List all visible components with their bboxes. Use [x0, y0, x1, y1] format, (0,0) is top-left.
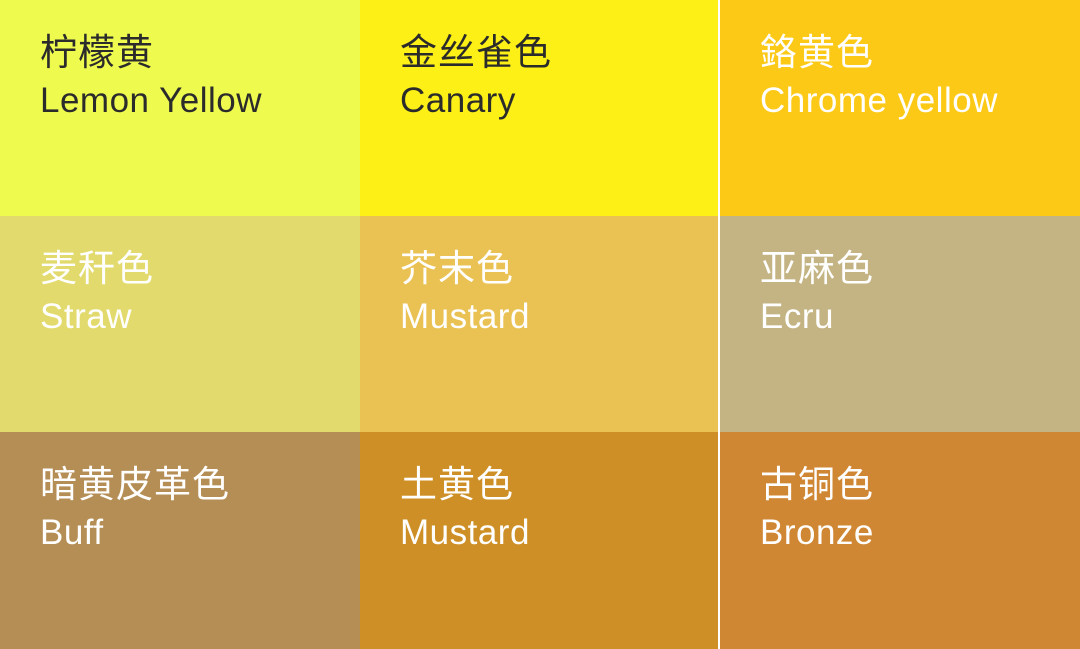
swatch-name-cn: 古铜色: [760, 462, 1080, 508]
color-swatch-earth-mustard[interactable]: 土黄色 Mustard: [360, 432, 718, 649]
swatch-name-en: Chrome yellow: [760, 78, 1080, 124]
swatch-name-cn: 柠檬黄: [40, 30, 360, 76]
color-swatch-buff[interactable]: 暗黄皮革色 Buff: [0, 432, 360, 649]
swatch-name-en: Canary: [400, 78, 718, 124]
swatch-name-en: Buff: [40, 510, 360, 556]
color-swatch-canary[interactable]: 金丝雀色 Canary: [360, 0, 718, 216]
swatch-name-cn: 鉻黄色: [760, 30, 1080, 76]
swatch-name-cn: 芥末色: [400, 246, 718, 292]
color-palette-grid: 柠檬黄 Lemon Yellow 金丝雀色 Canary 鉻黄色 Chrome …: [0, 0, 1080, 649]
swatch-name-cn: 暗黄皮革色: [40, 462, 360, 508]
color-swatch-ecru[interactable]: 亚麻色 Ecru: [718, 216, 1080, 432]
swatch-name-en: Ecru: [760, 294, 1080, 340]
swatch-name-en: Mustard: [400, 510, 718, 556]
swatch-name-en: Mustard: [400, 294, 718, 340]
swatch-name-cn: 麦秆色: [40, 246, 360, 292]
swatch-name-cn: 亚麻色: [760, 246, 1080, 292]
color-swatch-bronze[interactable]: 古铜色 Bronze: [718, 432, 1080, 649]
color-swatch-mustard[interactable]: 芥末色 Mustard: [360, 216, 718, 432]
color-swatch-lemon-yellow[interactable]: 柠檬黄 Lemon Yellow: [0, 0, 360, 216]
color-swatch-chrome-yellow[interactable]: 鉻黄色 Chrome yellow: [718, 0, 1080, 216]
swatch-name-en: Straw: [40, 294, 360, 340]
color-swatch-straw[interactable]: 麦秆色 Straw: [0, 216, 360, 432]
swatch-name-cn: 金丝雀色: [400, 30, 718, 76]
swatch-name-en: Lemon Yellow: [40, 78, 360, 124]
swatch-name-en: Bronze: [760, 510, 1080, 556]
swatch-name-cn: 土黄色: [400, 462, 718, 508]
